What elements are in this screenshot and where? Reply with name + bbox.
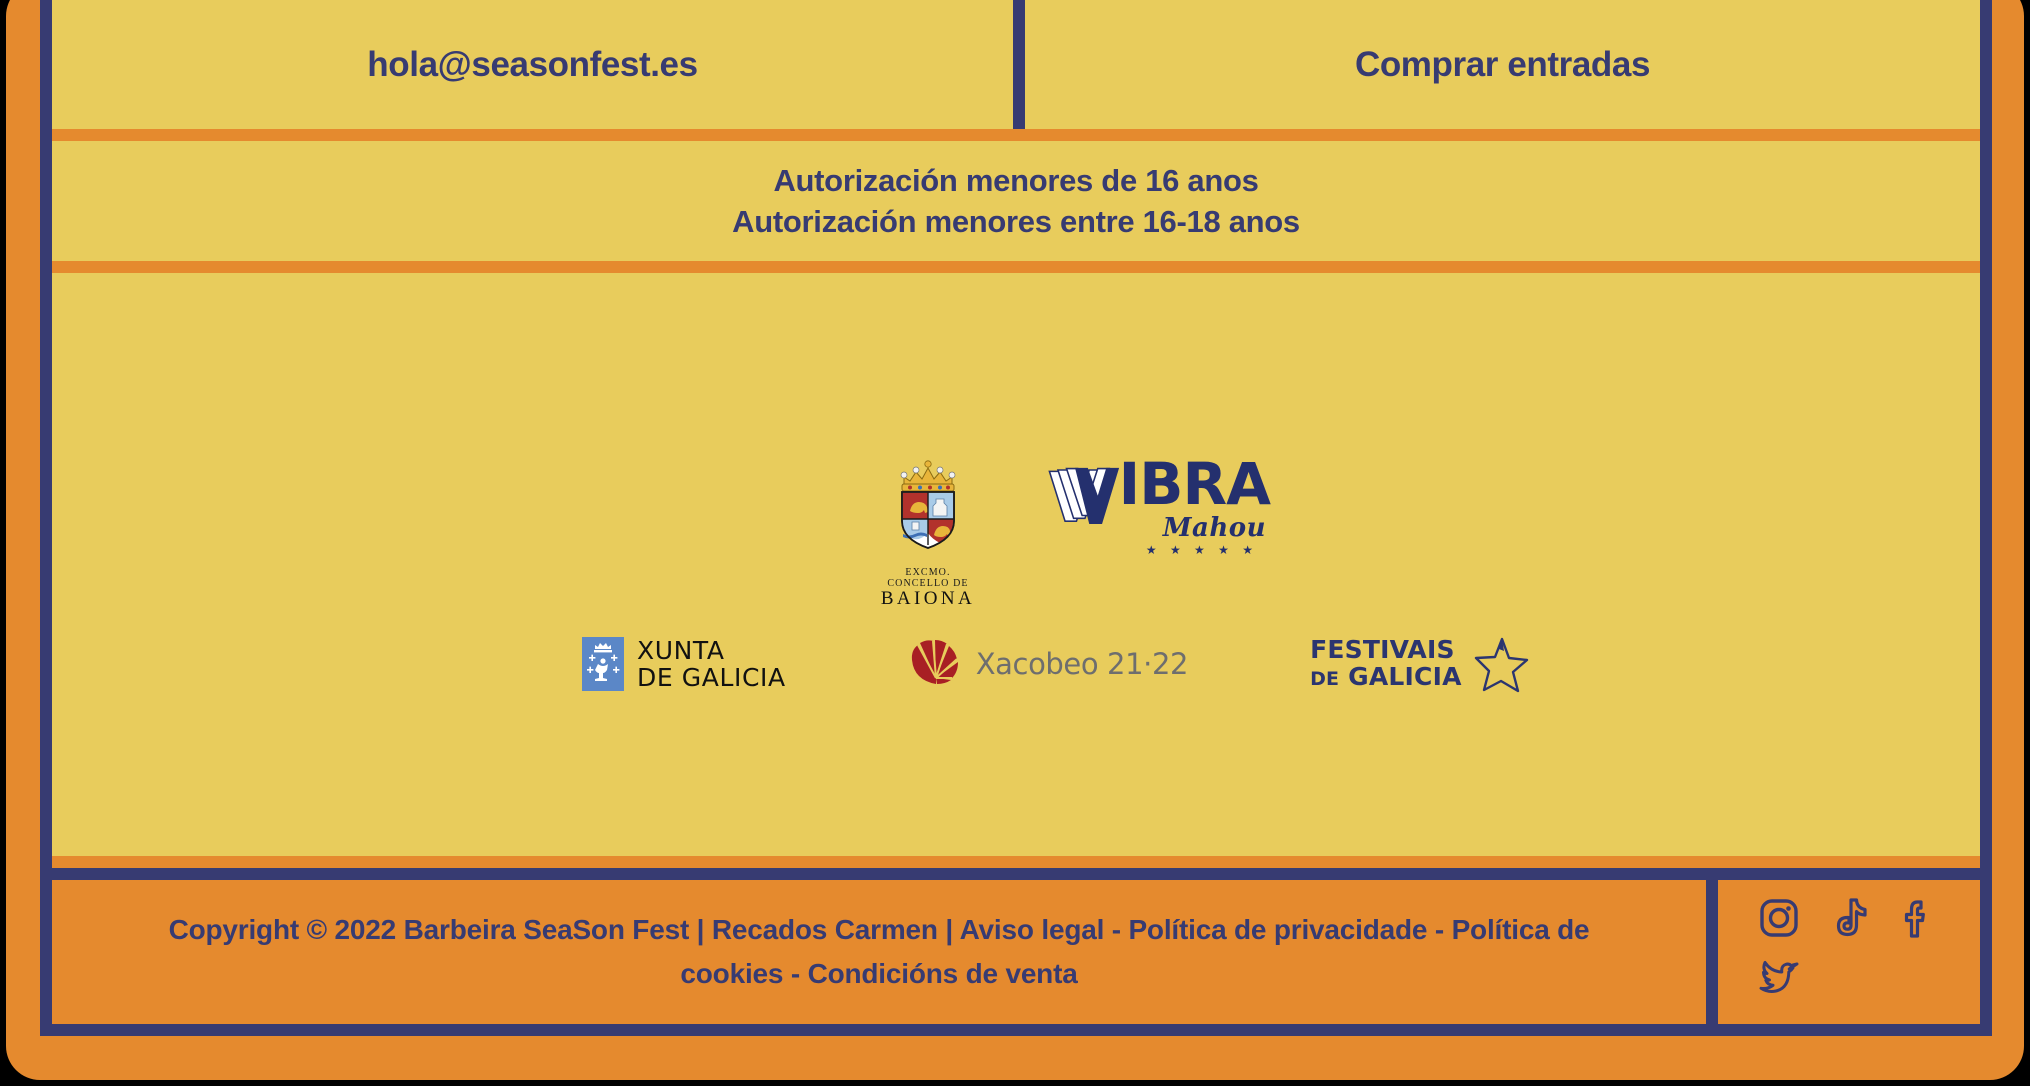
mahou-wordmark: Mahou	[1163, 513, 1266, 543]
sponsors-panel: EXCMO. CONCELLO DE BAIONA IBRA	[52, 273, 1980, 856]
tiktok-icon[interactable]	[1822, 892, 1872, 944]
twitter-icon[interactable]	[1754, 950, 1804, 1002]
xunta-line-2: DE GALICIA	[637, 664, 786, 691]
baiona-coat-of-arms-icon	[874, 455, 982, 559]
vibra-wordmark: IBRA	[1119, 455, 1270, 513]
authorization-under-16-link[interactable]: Autorización menores de 16 anos	[773, 160, 1258, 201]
top-row-divider	[1013, 0, 1025, 129]
email-link-cell[interactable]: hola@seasonfest.es	[52, 0, 1013, 129]
copyright-box: Copyright © 2022 Barbeira SeaSon Fest | …	[52, 868, 1718, 1024]
top-links-row: hola@seasonfest.es Comprar entradas	[40, 0, 1992, 129]
xunta-de-galicia-logo[interactable]: XUNTA DE GALICIA	[582, 637, 786, 691]
xacobeo-wordmark: Xacobeo 21·22	[976, 647, 1188, 681]
festivais-line-1: FESTIVAIS	[1310, 636, 1462, 663]
footer-bottom-bar: Copyright © 2022 Barbeira SeaSon Fest | …	[52, 868, 1980, 1024]
sponsors-row-2: XUNTA DE GALICIA	[582, 633, 1530, 695]
authorization-16-18-link[interactable]: Autorización menores entre 16-18 anos	[732, 201, 1300, 242]
mahou-stars: ★ ★ ★ ★ ★	[1146, 543, 1258, 557]
buy-tickets-link-cell[interactable]: Comprar entradas	[1025, 0, 1980, 129]
email-link-label: hola@seasonfest.es	[367, 45, 697, 85]
xunta-emblem-icon	[582, 637, 624, 691]
xacobeo-logo[interactable]: Xacobeo 21·22	[908, 638, 1188, 690]
vibra-v-mark-icon	[1048, 455, 1123, 539]
copyright-text[interactable]: Copyright © 2022 Barbeira SeaSon Fest | …	[139, 908, 1619, 996]
facebook-icon[interactable]	[1890, 892, 1940, 944]
festivais-line-2: GALICIA	[1348, 662, 1462, 691]
instagram-icon[interactable]	[1754, 892, 1804, 944]
xunta-line-1: XUNTA	[637, 637, 786, 664]
vibra-mahou-logo[interactable]: IBRA Mahou ★ ★ ★ ★ ★	[1048, 455, 1270, 565]
buy-tickets-label: Comprar entradas	[1355, 45, 1650, 85]
festivais-de-galicia-logo[interactable]: FESTIVAIS DE GALICIA	[1310, 633, 1530, 695]
social-links-box	[1718, 868, 1980, 1024]
authorizations-panel: Autorización menores de 16 anos Autoriza…	[52, 141, 1980, 261]
star-outline-icon	[1468, 633, 1530, 695]
festivais-line-2-small: DE	[1310, 668, 1339, 690]
footer-page: hola@seasonfest.es Comprar entradas Auto…	[0, 0, 2030, 1086]
baiona-caption-small: EXCMO. CONCELLO DE	[874, 567, 982, 589]
scallop-shell-icon	[908, 638, 964, 690]
baiona-caption-big: BAIONA	[874, 589, 982, 609]
sponsors-row-1: EXCMO. CONCELLO DE BAIONA IBRA	[874, 455, 1270, 609]
concello-de-baiona-logo[interactable]: EXCMO. CONCELLO DE BAIONA	[874, 455, 982, 609]
